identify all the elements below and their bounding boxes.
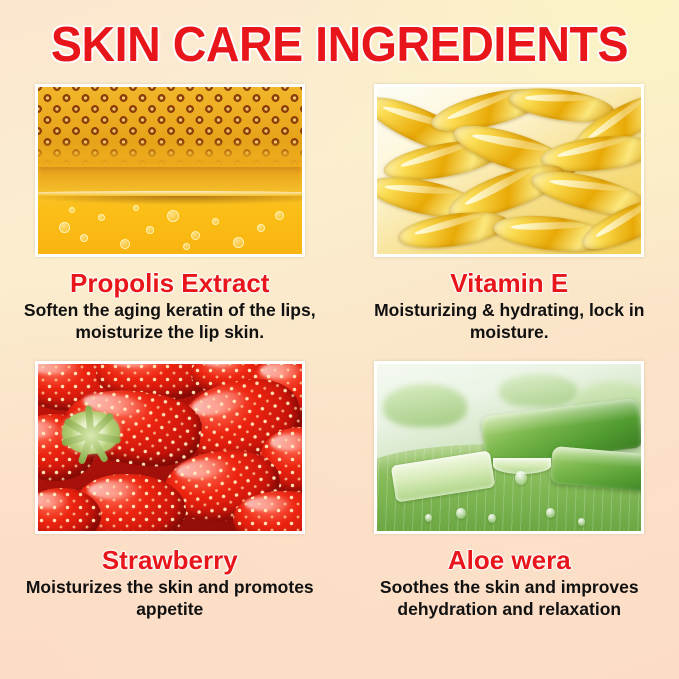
vitamin-e-capsules-image — [377, 87, 641, 254]
aloe-photo-frame — [374, 361, 644, 534]
ingredient-description: Soothes the skin and improves dehydratio… — [349, 576, 669, 620]
strawberries-image — [38, 364, 302, 531]
vitamin-e-photo-frame — [374, 84, 644, 257]
ingredient-heading: Vitamin E — [450, 268, 568, 298]
propolis-photo-frame — [35, 84, 305, 257]
strawberry-calyx — [62, 411, 120, 454]
ingredient-description: Soften the aging keratin of the lips, mo… — [20, 299, 320, 343]
ingredient-description: Moisturizing & hydrating, lock in moistu… — [359, 299, 659, 343]
ingredient-card-aloe-wera: Aloe wera Soothes the skin and improves … — [340, 361, 679, 620]
page-title: SKIN CARE INGREDIENTS — [17, 18, 662, 72]
ingredient-heading: Propolis Extract — [70, 268, 269, 298]
ingredient-card-vitamin-e: Vitamin E Moisturizing & hydrating, lock… — [340, 84, 679, 343]
aloe-vera-image — [377, 364, 641, 531]
honeycomb-honey-image — [38, 87, 302, 254]
ingredient-card-strawberry: Strawberry Moisturizes the skin and prom… — [0, 361, 340, 620]
ingredient-heading: Strawberry — [102, 545, 238, 575]
ingredient-row-bottom: Strawberry Moisturizes the skin and prom… — [0, 361, 679, 620]
strawberry-photo-frame — [35, 361, 305, 534]
ingredient-card-propolis-extract: Propolis Extract Soften the aging kerati… — [0, 84, 340, 343]
honey-bubbles — [38, 187, 302, 254]
ingredient-row-top: Propolis Extract Soften the aging kerati… — [0, 84, 679, 343]
ingredient-heading: Aloe wera — [448, 545, 571, 575]
ingredient-description: Moisturizes the skin and promotes appeti… — [20, 576, 320, 620]
ingredient-grid: Propolis Extract Soften the aging kerati… — [0, 84, 679, 620]
skin-care-ingredients-poster: SKIN CARE INGREDIENTS — [0, 0, 679, 679]
